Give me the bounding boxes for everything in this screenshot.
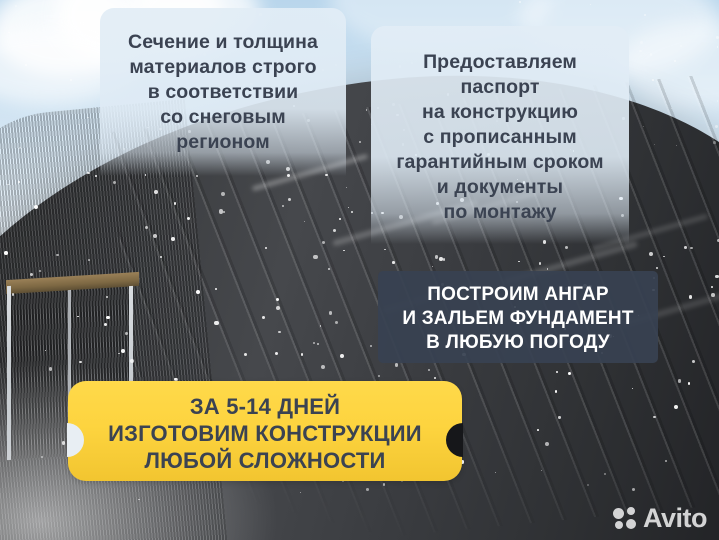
avito-logo-icon xyxy=(613,507,639,531)
promise-line: В ЛЮБУЮ ПОГОДУ xyxy=(378,331,658,355)
feature-1-line: Сечение и толщина xyxy=(100,30,346,55)
feature-1-line: материалов строго xyxy=(100,55,346,80)
feature-1-line: в соответствии xyxy=(100,80,346,105)
ticket-line: ИЗГОТОВИМ КОНСТРУКЦИИ xyxy=(68,420,462,447)
advertisement-image: Сечение и толщина материалов строго в со… xyxy=(0,0,719,540)
promise-line: И ЗАЛЬЕМ ФУНДАМЕНТ xyxy=(378,307,658,331)
feature-panel-materials: Сечение и толщина материалов строго в со… xyxy=(100,8,346,176)
feature-panel-passport: Предоставляем паспорт на конструкцию с п… xyxy=(371,26,629,244)
feature-2-line: паспорт xyxy=(371,75,629,100)
feature-1-line: регионом xyxy=(100,130,346,155)
feature-2-line: Предоставляем xyxy=(371,50,629,75)
promise-line: ПОСТРОИМ АНГАР xyxy=(378,283,658,307)
feature-2-line: гарантийным сроком xyxy=(371,150,629,175)
avito-watermark: Avito xyxy=(613,505,707,532)
ticket-banner-delivery-time: ЗА 5-14 ДНЕЙ ИЗГОТОВИМ КОНСТРУКЦИИ ЛЮБОЙ… xyxy=(68,381,462,481)
promise-panel-any-weather: ПОСТРОИМ АНГАР И ЗАЛЬЕМ ФУНДАМЕНТ В ЛЮБУ… xyxy=(378,271,658,363)
feature-2-line: и документы xyxy=(371,175,629,200)
feature-2-line: по монтажу xyxy=(371,200,629,225)
feature-2-line: на конструкцию xyxy=(371,100,629,125)
feature-2-line: с прописанным xyxy=(371,125,629,150)
feature-1-line: со снеговым xyxy=(100,105,346,130)
avito-wordmark: Avito xyxy=(643,505,707,532)
ticket-line: ЗА 5-14 ДНЕЙ xyxy=(68,393,462,420)
ticket-line: ЛЮБОЙ СЛОЖНОСТИ xyxy=(68,447,462,474)
